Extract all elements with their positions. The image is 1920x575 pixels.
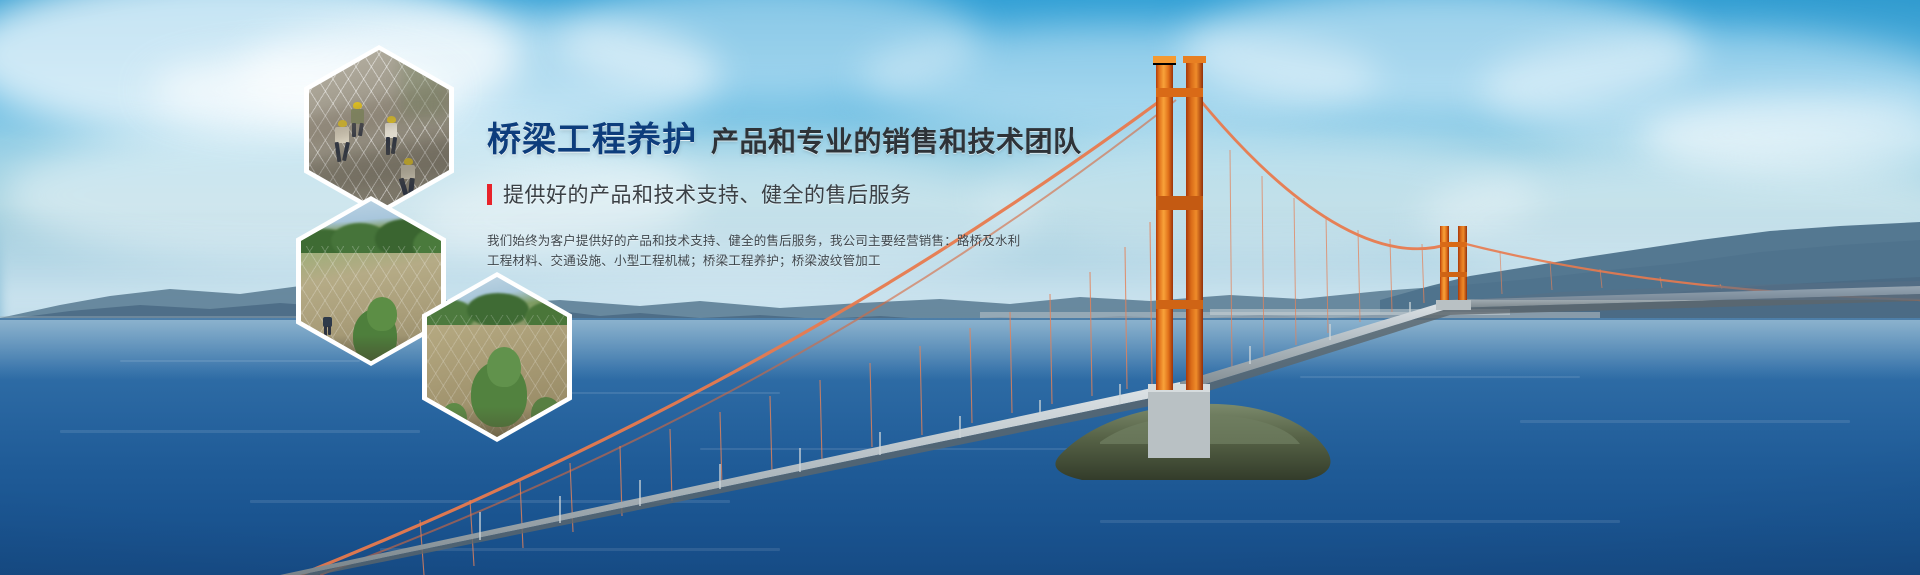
- hero-banner: 桥梁工程养护产品和专业的销售和技术团队 提供好的产品和技术支持、健全的售后服务 …: [0, 0, 1920, 575]
- body-line: 工程材料、交通设施、小型工程机械；桥梁工程养护；桥梁波纹管加工: [487, 251, 1007, 271]
- body-line: 我们始终为客户提供好的产品和技术支持、健全的售后服务，我公司主要经营销售：路桥及…: [487, 231, 1007, 251]
- hex-photo-1: [304, 45, 454, 215]
- subtitle-row: 提供好的产品和技术支持、健全的售后服务: [487, 179, 1007, 209]
- banner-text-block: 桥梁工程养护产品和专业的销售和技术团队 提供好的产品和技术支持、健全的售后服务 …: [487, 123, 1007, 271]
- photo-rockfall-netting-workers: [309, 50, 449, 210]
- accent-bar: [487, 184, 492, 205]
- suspension-bridge: [0, 0, 1920, 575]
- headline-primary: 桥梁工程养护: [487, 121, 697, 159]
- body-paragraph: 我们始终为客户提供好的产品和技术支持、健全的售后服务，我公司主要经营销售：路桥及…: [487, 231, 1007, 271]
- photo-slope-protection-mesh: [301, 201, 441, 361]
- hex-photo-3: [422, 272, 572, 442]
- subtitle-text: 提供好的产品和技术支持、健全的售后服务: [503, 179, 912, 209]
- photo-slope-revegetation: [427, 277, 567, 437]
- headline: 桥梁工程养护产品和专业的销售和技术团队: [487, 123, 1007, 157]
- headline-secondary: 产品和专业的销售和技术团队: [711, 126, 1082, 157]
